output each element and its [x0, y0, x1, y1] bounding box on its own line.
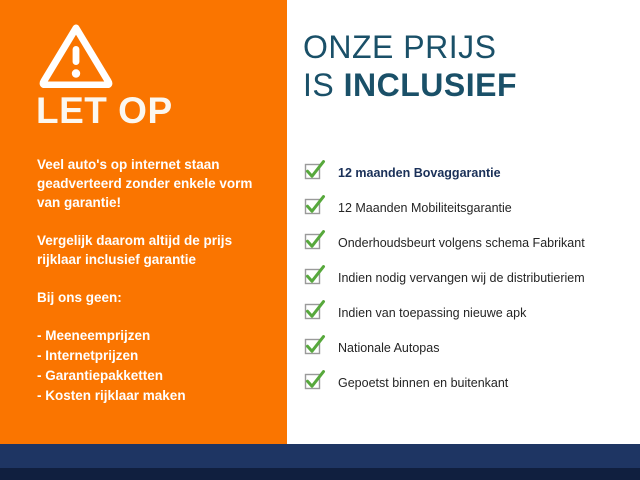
- checkbox-checked-icon: [303, 337, 323, 359]
- list-item: 12 Maanden Mobiliteitsgarantie: [303, 190, 638, 225]
- exclusion-item: - Kosten rijklaar maken: [37, 386, 277, 406]
- list-item-label: 12 maanden Bovaggarantie: [338, 166, 501, 180]
- checkbox-checked-icon: [303, 302, 323, 324]
- list-item: Indien van toepassing nieuwe apk: [303, 295, 638, 330]
- page-title: LET OP: [36, 92, 173, 129]
- list-item-label: Indien nodig vervangen wij de distributi…: [338, 271, 585, 285]
- exclusion-item: - Internetprijzen: [37, 346, 277, 366]
- exclusion-item: - Meeneemprijzen: [37, 326, 277, 346]
- list-item: Indien nodig vervangen wij de distributi…: [303, 260, 638, 295]
- list-item: Gepoetst binnen en buitenkant: [303, 365, 638, 400]
- list-item: Nationale Autopas: [303, 330, 638, 365]
- price-heading-line-2: IS INCLUSIEF: [303, 66, 517, 104]
- warning-body: Veel auto's op internet staan geadvertee…: [37, 155, 277, 406]
- price-heading-prefix: IS: [303, 67, 344, 103]
- list-item-label: Indien van toepassing nieuwe apk: [338, 306, 526, 320]
- list-item: Onderhoudsbeurt volgens schema Fabrikant: [303, 225, 638, 260]
- warning-paragraph-1: Veel auto's op internet staan geadvertee…: [37, 155, 277, 212]
- warning-triangle-icon: [38, 22, 114, 88]
- list-item-label: Gepoetst binnen en buitenkant: [338, 376, 508, 390]
- list-item: 12 maanden Bovaggarantie: [303, 155, 638, 190]
- list-item-label: 12 Maanden Mobiliteitsgarantie: [338, 201, 512, 215]
- price-heading-emphasis: INCLUSIEF: [344, 67, 517, 103]
- list-item-label: Nationale Autopas: [338, 341, 439, 355]
- promo-banner: LET OP Veel auto's op internet staan gea…: [0, 0, 640, 480]
- price-heading: ONZE PRIJS IS INCLUSIEF: [303, 28, 517, 104]
- list-item-label: Onderhoudsbeurt volgens schema Fabrikant: [338, 236, 585, 250]
- warning-panel: LET OP Veel auto's op internet staan gea…: [0, 0, 287, 444]
- checkbox-checked-icon: [303, 267, 323, 289]
- warning-paragraph-3: Bij ons geen:: [37, 288, 277, 307]
- warning-paragraph-2: Vergelijk daarom altijd de prijs rijklaa…: [37, 231, 277, 269]
- price-heading-line-1: ONZE PRIJS: [303, 28, 517, 66]
- checkbox-checked-icon: [303, 197, 323, 219]
- inclusions-list: 12 maanden Bovaggarantie 12 Maanden Mobi…: [303, 155, 638, 400]
- footer-bar-shadow: [0, 468, 640, 480]
- checkbox-checked-icon: [303, 372, 323, 394]
- checkbox-checked-icon: [303, 232, 323, 254]
- footer-bar: [0, 444, 640, 468]
- checkbox-checked-icon: [303, 162, 323, 184]
- exclusion-item: - Garantiepakketten: [37, 366, 277, 386]
- inclusive-price-panel: ONZE PRIJS IS INCLUSIEF 12 maanden Bovag…: [287, 0, 640, 444]
